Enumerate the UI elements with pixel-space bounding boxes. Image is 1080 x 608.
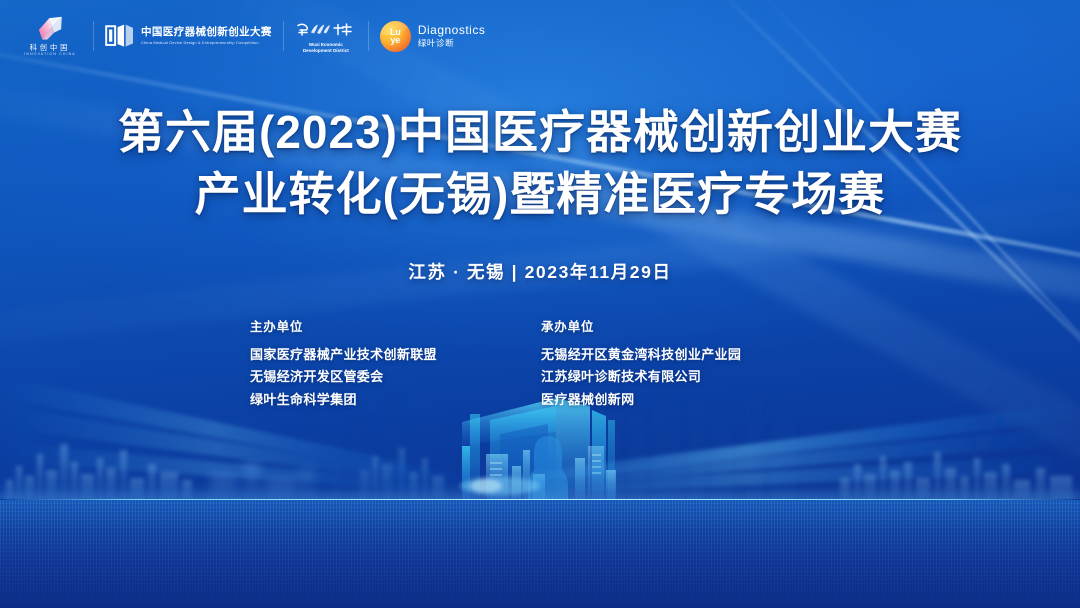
headline-block: 第六届(2023)中国医疗器械创新创业大赛 产业转化(无锡)暨精准医疗专场赛 江… [0, 0, 1080, 284]
poster-canvas: 科创中国 INNOVATION CHINA 中国医疗器械创新创业大赛 China… [0, 0, 1080, 608]
co-organizer-item: 无锡经开区黄金湾科技创业产业园 [541, 344, 830, 366]
luye-badge-text: Luye [390, 28, 401, 45]
poster-title-line-1: 第六届(2023)中国医疗器械创新创业大赛 [0, 0, 1080, 163]
co-organizer-item: 江苏绿叶诊断技术有限公司 [541, 366, 830, 388]
co-organizer-heading: 承办单位 [541, 316, 830, 335]
host-organizer-heading: 主办单位 [250, 316, 540, 335]
co-organizer-item: 医疗器械创新网 [541, 389, 830, 411]
host-organizer-column: 主办单位 国家医疗器械产业技术创新联盟 无锡经济开发区管委会 绿叶生命科学集团 [250, 316, 540, 411]
host-organizer-item: 绿叶生命科学集团 [250, 389, 540, 411]
poster-title-line-2: 产业转化(无锡)暨精准医疗专场赛 [0, 165, 1080, 225]
date-location-line: 江苏 · 无锡 | 2023年11月29日 [0, 259, 1080, 284]
host-organizer-item: 无锡经济开发区管委会 [250, 366, 540, 388]
co-organizer-column: 承办单位 无锡经开区黄金湾科技创业产业园 江苏绿叶诊断技术有限公司 医疗器械创新… [540, 316, 830, 411]
organizer-section: 主办单位 国家医疗器械产业技术创新联盟 无锡经济开发区管委会 绿叶生命科学集团 … [0, 316, 1080, 411]
host-organizer-item: 国家医疗器械产业技术创新联盟 [250, 344, 540, 366]
foreground-ground [0, 500, 1080, 608]
